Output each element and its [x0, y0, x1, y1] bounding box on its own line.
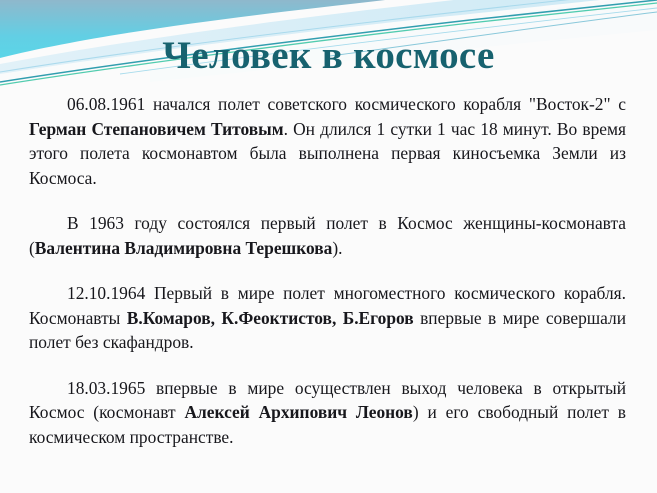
- paragraph-4: 18.03.1965 впервые в мире осуществлен вы…: [29, 376, 626, 450]
- paragraph-2: В 1963 году состоялся первый полет в Кос…: [29, 211, 626, 260]
- paragraph-1: 06.08.1961 начался полет советского косм…: [29, 92, 626, 190]
- slide: Человек в космосе 06.08.1961 начался пол…: [0, 0, 657, 493]
- paragraph-3: 12.10.1964 Первый в мире полет многомест…: [29, 281, 626, 355]
- page-title: Человек в космосе: [0, 34, 657, 78]
- slide-body: 06.08.1961 начался полет советского косм…: [29, 92, 626, 449]
